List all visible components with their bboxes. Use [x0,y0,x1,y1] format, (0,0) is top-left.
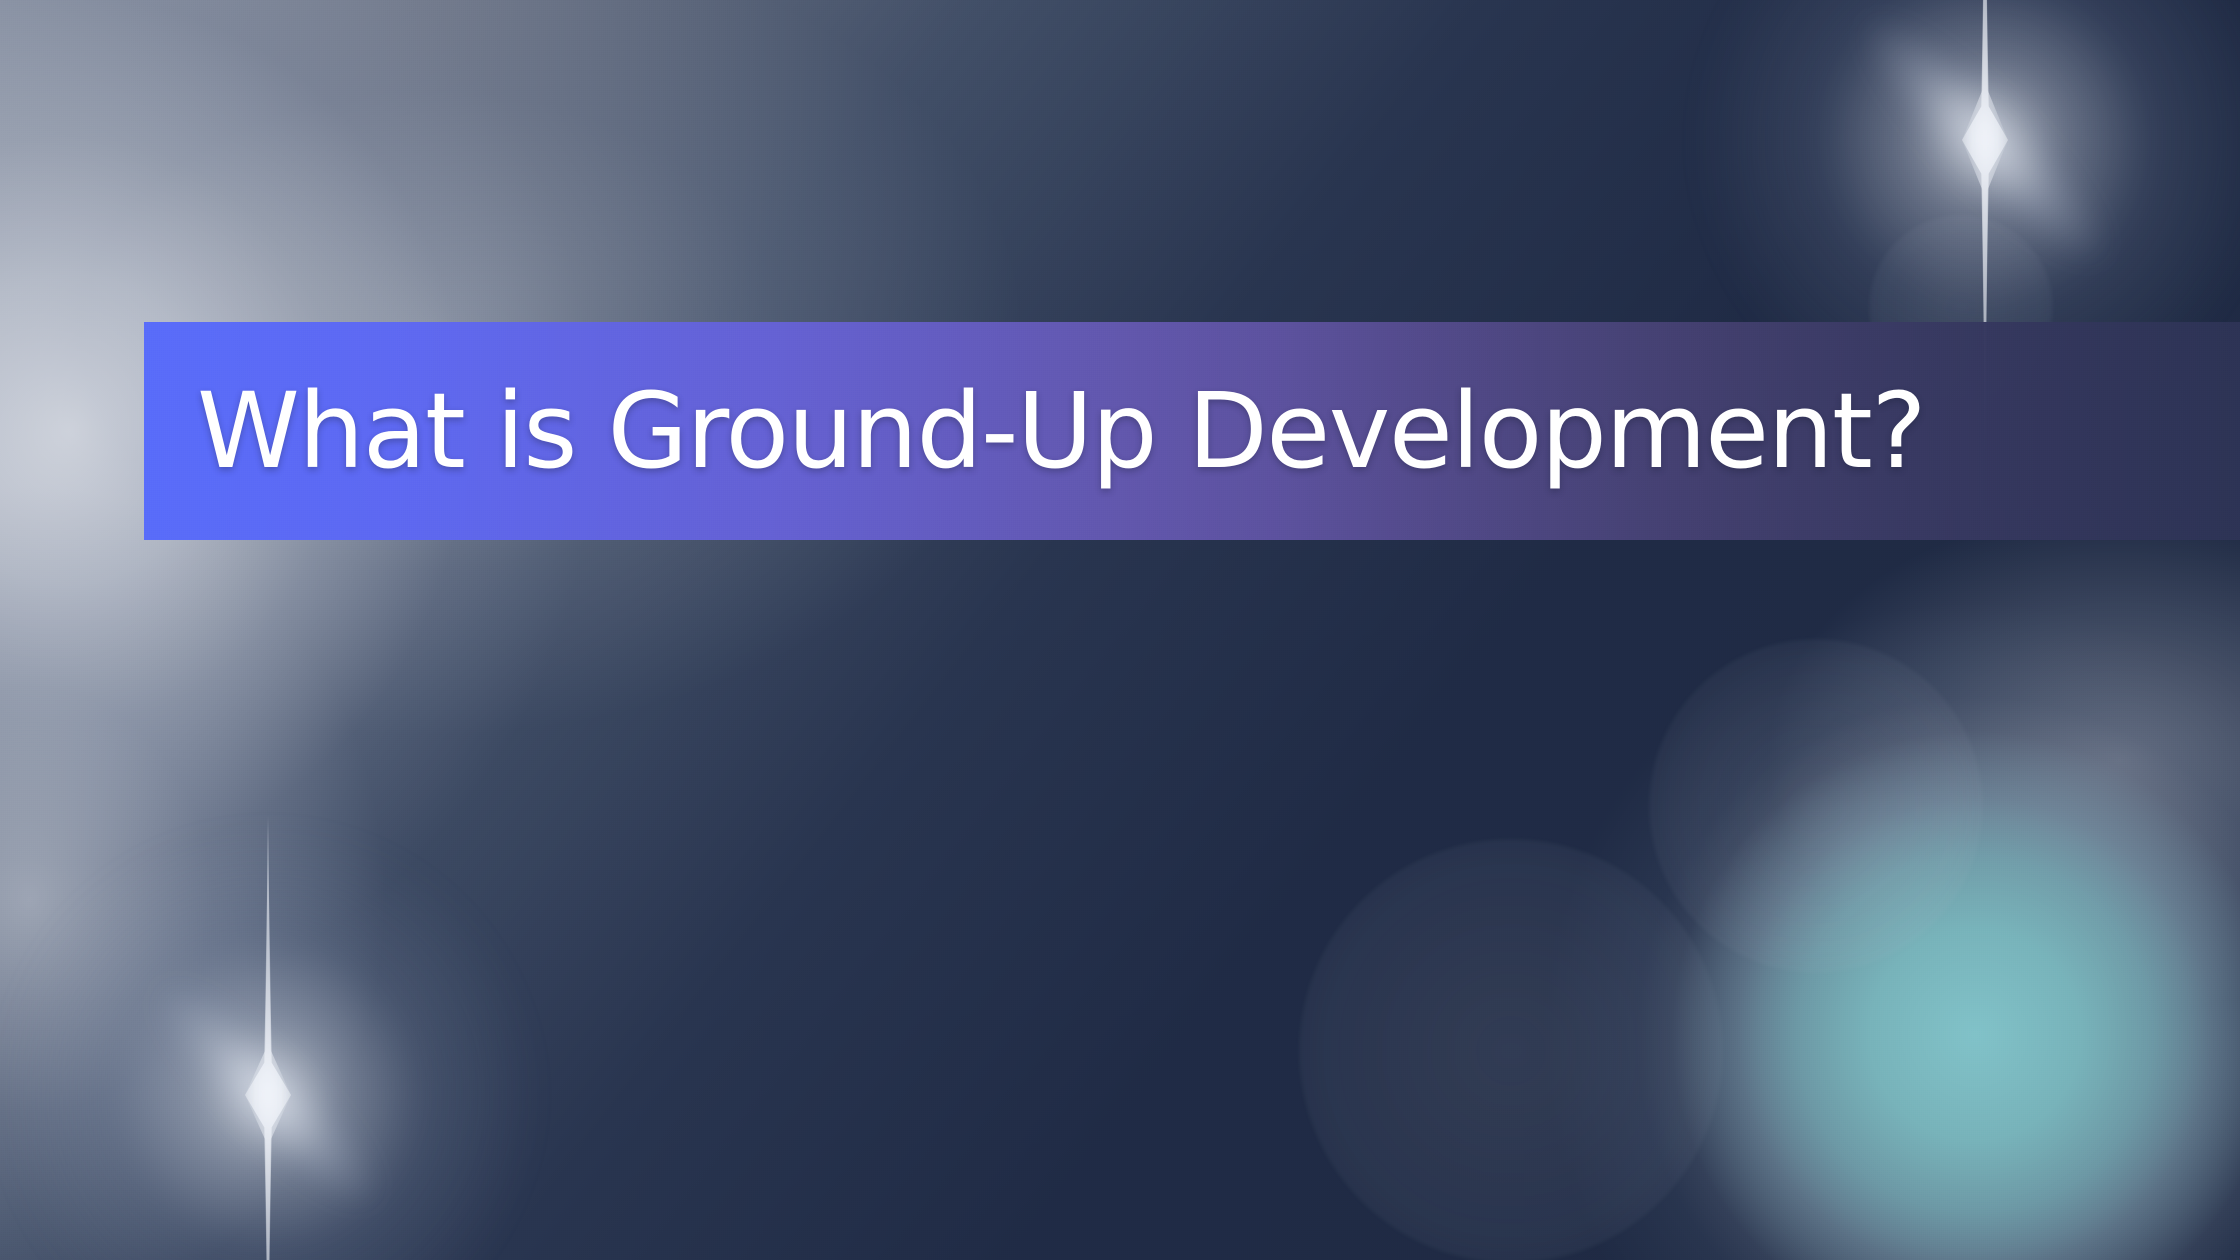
sparkle-diagonal-ray [19,846,517,1260]
slide-canvas: What is Ground-Up Development? [0,0,2240,1260]
mid-glow [0,0,2240,1260]
film-grain-overlay [0,0,2240,1260]
cyan-orb-halo [0,0,2240,1260]
sparkle-vertical-ray [245,825,291,1260]
title-banner: What is Ground-Up Development? [144,322,2240,540]
cyan-orb [0,0,2240,1260]
page-title: What is Ground-Up Development? [144,379,1925,483]
left-glow [0,0,2240,1260]
lens-flare-disc-large [1300,840,1722,1260]
lens-flare-disc-medium [1650,640,1982,972]
background-base-gradient [0,0,2240,1260]
sparkle-core [0,825,548,1260]
sparkle-horizontal-ray [245,815,291,1260]
sparkle-star-icon [0,825,548,1260]
orb-sheen-glow [0,0,2240,1260]
left-lower-glow [0,0,2240,1260]
